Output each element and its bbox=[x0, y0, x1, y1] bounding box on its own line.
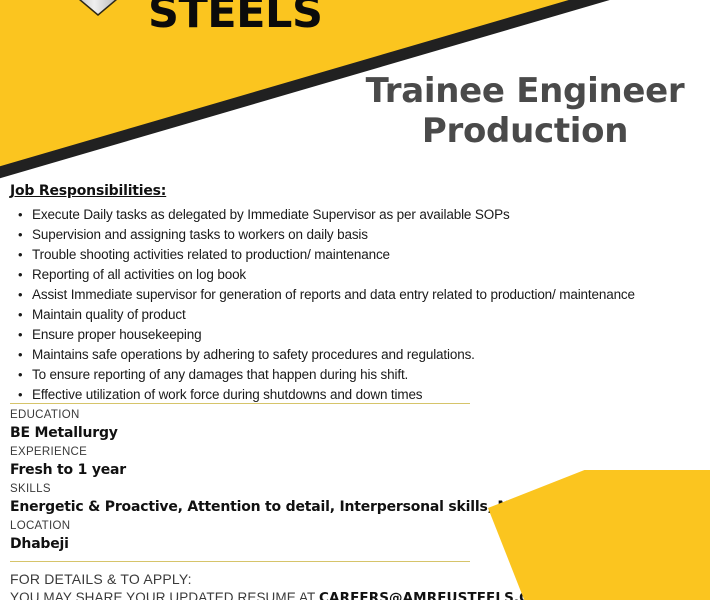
details-section: EDUCATIONBE MetallurgyEXPERIENCEFresh to… bbox=[10, 408, 700, 556]
responsibility-text: Maintains safe operations by adhering to… bbox=[32, 347, 475, 362]
responsibility-text: Ensure proper housekeeping bbox=[32, 327, 201, 342]
responsibility-item: •Ensure proper housekeeping bbox=[10, 325, 710, 345]
detail-value-location: Dhabeji bbox=[10, 535, 700, 555]
footer-section: FOR DETAILS & TO APPLY: YOU MAY SHARE YO… bbox=[10, 570, 610, 600]
responsibility-item: •Maintains safe operations by adhering t… bbox=[10, 345, 710, 365]
responsibility-text: Reporting of all activities on log book bbox=[32, 267, 246, 282]
chevron-logo-icon bbox=[52, 0, 144, 36]
bullet-icon: • bbox=[18, 245, 22, 264]
brand-wordmark: STEELS bbox=[148, 0, 322, 35]
job-posting-poster: STEELS Trainee Engineer Production Job R… bbox=[0, 0, 710, 600]
responsibility-item: •Supervision and assigning tasks to work… bbox=[10, 225, 710, 245]
detail-value-skills: Energetic & Proactive, Attention to deta… bbox=[10, 498, 700, 518]
bullet-icon: • bbox=[18, 225, 22, 244]
footer-apply-instruction: YOU MAY SHARE YOUR UPDATED RESUME AT CAR… bbox=[10, 589, 610, 600]
responsibility-text: To ensure reporting of any damages that … bbox=[32, 367, 408, 382]
responsibility-text: Assist Immediate supervisor for generati… bbox=[32, 287, 635, 302]
responsibility-item: •Trouble shooting activities related to … bbox=[10, 245, 710, 265]
responsibilities-section: Job Responsibilities: •Execute Daily tas… bbox=[10, 183, 710, 405]
bullet-icon: • bbox=[18, 205, 22, 224]
responsibility-item: •Effective utilization of work force dur… bbox=[10, 385, 710, 405]
bullet-icon: • bbox=[18, 325, 22, 344]
responsibility-item: •Reporting of all activities on log book bbox=[10, 265, 710, 285]
responsibility-text: Effective utilization of work force duri… bbox=[32, 387, 422, 402]
responsibility-text: Trouble shooting activities related to p… bbox=[32, 247, 390, 262]
bullet-icon: • bbox=[18, 385, 22, 404]
divider-above-footer bbox=[10, 561, 470, 562]
responsibility-item: •Execute Daily tasks as delegated by Imm… bbox=[10, 205, 710, 225]
detail-label-location: LOCATION bbox=[10, 519, 700, 535]
job-title-line-2: Production bbox=[350, 112, 700, 152]
responsibility-text: Maintain quality of product bbox=[32, 307, 186, 322]
bullet-icon: • bbox=[18, 305, 22, 324]
divider-above-details bbox=[10, 403, 470, 404]
job-title-line-1: Trainee Engineer bbox=[366, 71, 685, 111]
detail-label-education: EDUCATION bbox=[10, 408, 700, 424]
detail-value-experience: Fresh to 1 year bbox=[10, 461, 700, 481]
bullet-icon: • bbox=[18, 345, 22, 364]
responsibility-item: •Assist Immediate supervisor for generat… bbox=[10, 285, 710, 305]
footer-apply-heading: FOR DETAILS & TO APPLY: bbox=[10, 570, 610, 589]
detail-label-experience: EXPERIENCE bbox=[10, 445, 700, 461]
responsibility-text: Execute Daily tasks as delegated by Imme… bbox=[32, 207, 510, 222]
bullet-icon: • bbox=[18, 265, 22, 284]
bullet-icon: • bbox=[18, 285, 22, 304]
responsibility-item: •To ensure reporting of any damages that… bbox=[10, 365, 710, 385]
responsibilities-list: •Execute Daily tasks as delegated by Imm… bbox=[10, 205, 710, 405]
detail-value-education: BE Metallurgy bbox=[10, 424, 700, 444]
footer-instruction-prefix: YOU MAY SHARE YOUR UPDATED RESUME AT bbox=[10, 590, 319, 600]
careers-email[interactable]: CAREERS@AMREUSTEELS.COM bbox=[319, 590, 554, 600]
brand-logo: STEELS bbox=[52, 0, 302, 36]
bullet-icon: • bbox=[18, 365, 22, 384]
responsibilities-heading: Job Responsibilities: bbox=[10, 183, 710, 199]
detail-label-skills: SKILLS bbox=[10, 482, 700, 498]
job-title: Trainee Engineer Production bbox=[350, 72, 700, 152]
responsibility-item: •Maintain quality of product bbox=[10, 305, 710, 325]
responsibility-text: Supervision and assigning tasks to worke… bbox=[32, 227, 368, 242]
